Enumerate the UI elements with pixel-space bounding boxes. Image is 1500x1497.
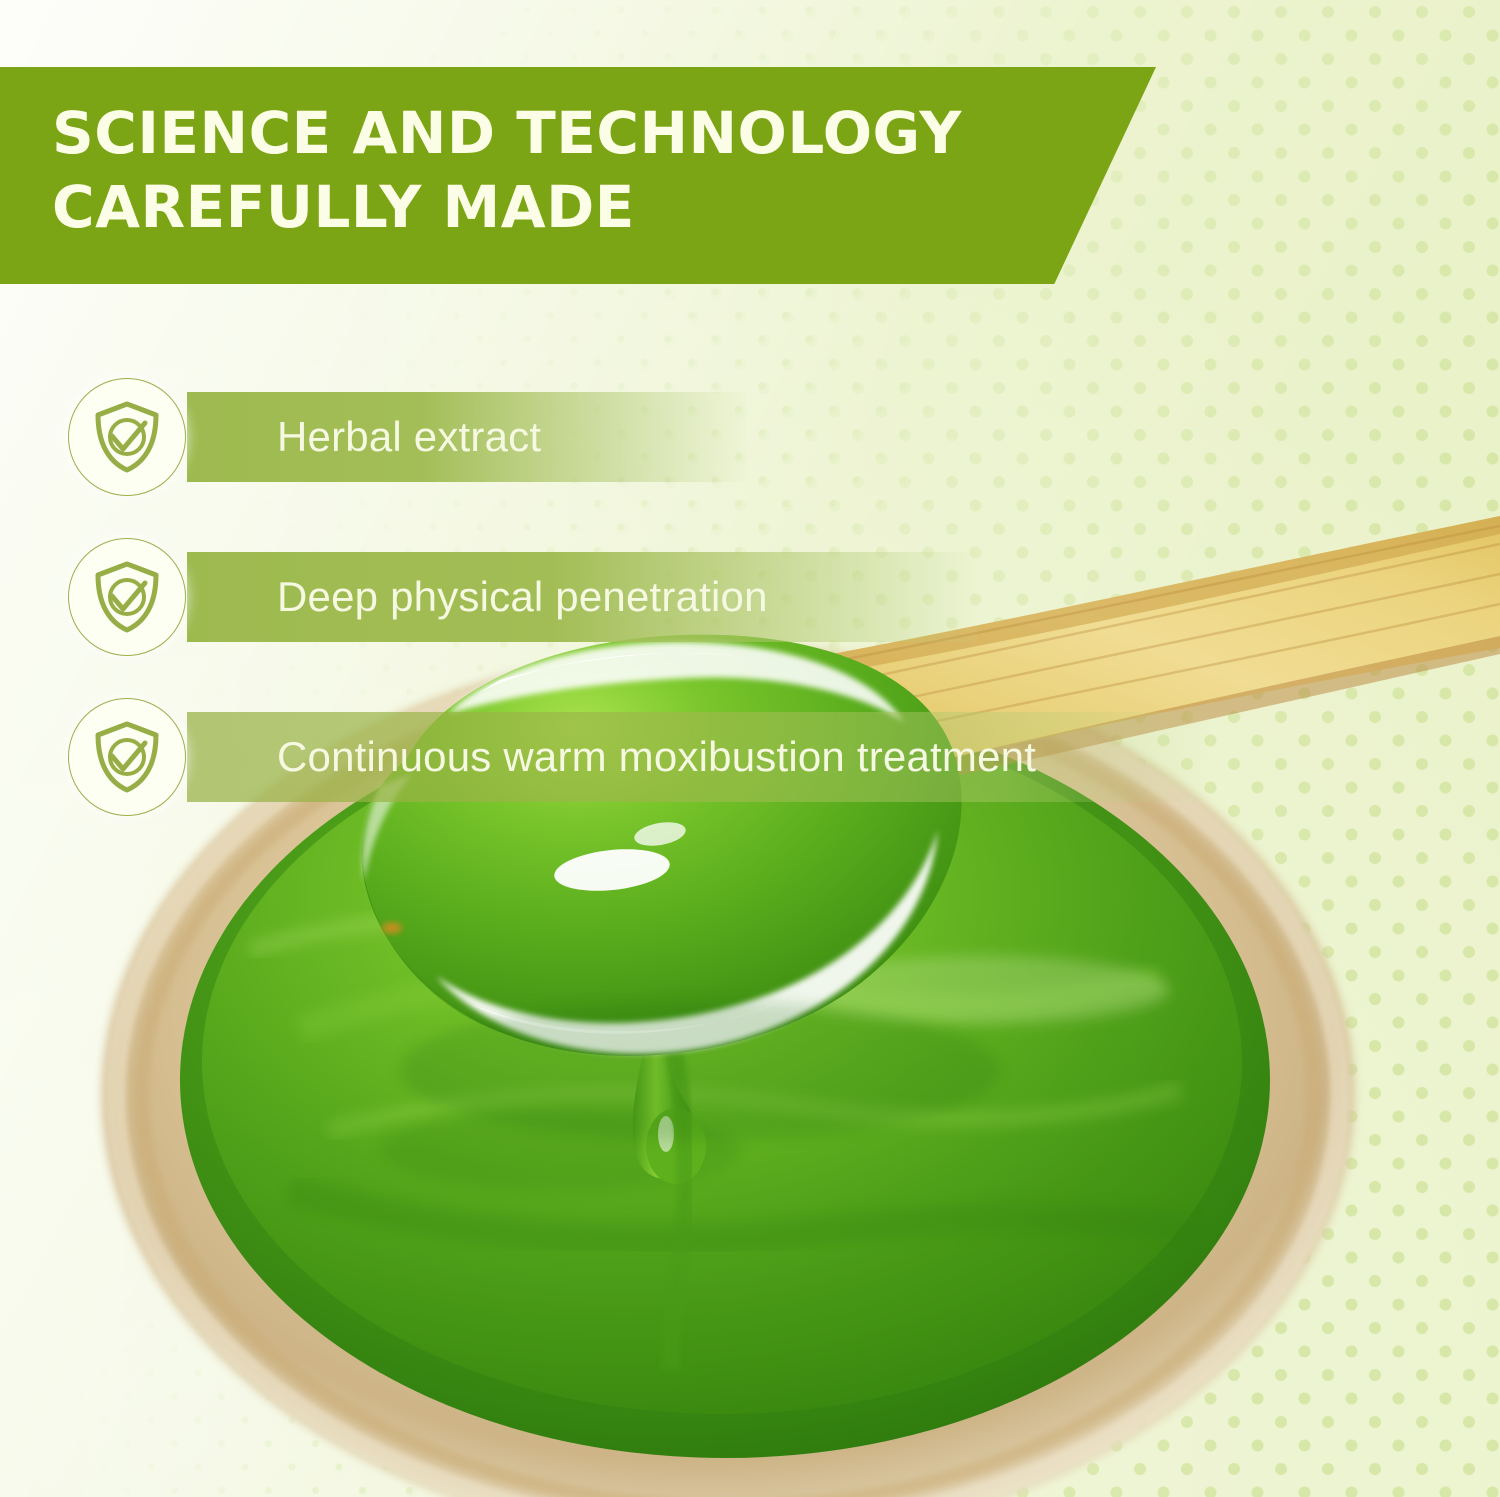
feature-label: Continuous warm moxibustion treatment [277,733,1036,781]
page-title: SCIENCE AND TECHNOLOGY CAREFULLY MADE [52,96,1112,244]
feature-label: Deep physical penetration [277,573,768,621]
feature-badge [68,378,186,496]
feature-bar: Continuous warm moxibustion treatment [187,712,1209,802]
feature-badge [68,538,186,656]
feature-badge [68,698,186,816]
shield-check-icon [91,399,163,475]
feature-bar: Deep physical penetration [187,552,977,642]
product-feature-banner: SCIENCE AND TECHNOLOGY CAREFULLY MADE He… [0,0,1500,1497]
feature-bar: Herbal extract [187,392,747,482]
shield-check-icon [91,559,163,635]
feature-label: Herbal extract [277,413,541,461]
shield-check-icon [91,719,163,795]
